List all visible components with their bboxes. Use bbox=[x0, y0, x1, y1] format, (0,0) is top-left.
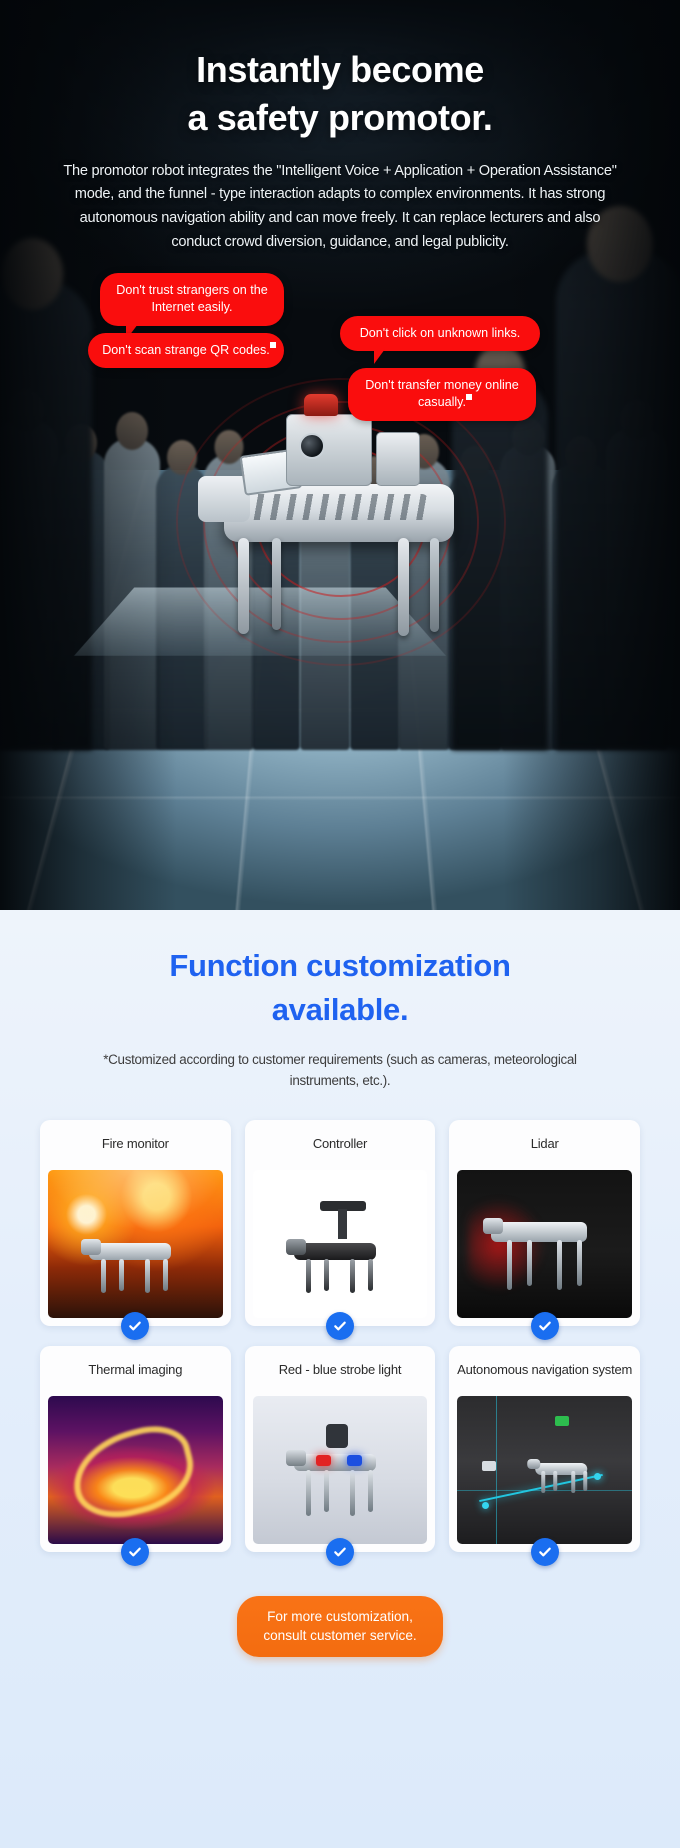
cta-line-1: For more customization, bbox=[267, 1609, 413, 1624]
option-card-image-lidar bbox=[457, 1170, 632, 1318]
check-icon[interactable] bbox=[531, 1538, 559, 1566]
tip-bubble-trust-strangers: Don't trust strangers on the Internet ea… bbox=[100, 273, 284, 326]
hero-copy: Instantly become a safety promotor. The … bbox=[0, 46, 680, 254]
tip-bubble-transfer-money: Don't transfer money online casually. bbox=[348, 368, 536, 421]
option-card-image-thermal-imaging bbox=[48, 1396, 223, 1544]
option-card-image-controller bbox=[253, 1170, 428, 1318]
consult-customer-service-button[interactable]: For more customization, consult customer… bbox=[237, 1596, 442, 1657]
hero-title: Instantly become a safety promotor. bbox=[0, 46, 680, 142]
check-icon[interactable] bbox=[121, 1312, 149, 1340]
option-card-label: Controller bbox=[245, 1120, 436, 1170]
robot-camera-module bbox=[286, 414, 372, 486]
option-card-label: Red - blue strobe light bbox=[245, 1346, 436, 1396]
robot-head bbox=[198, 476, 250, 522]
check-icon[interactable] bbox=[121, 1538, 149, 1566]
option-card-grid: Fire monitor Controller bbox=[40, 1120, 640, 1552]
tip-bubble-qr-codes: Don't scan strange QR codes. bbox=[88, 333, 284, 368]
option-card-label: Lidar bbox=[449, 1120, 640, 1170]
check-icon[interactable] bbox=[326, 1312, 354, 1340]
hero-title-line-1: Instantly become bbox=[196, 49, 484, 90]
function-customization-section: Function customization available. *Custo… bbox=[0, 910, 680, 1848]
promotor-robot-dog bbox=[176, 392, 506, 692]
camera-lens-icon bbox=[299, 433, 325, 459]
check-icon[interactable] bbox=[531, 1312, 559, 1340]
hero-description: The promotor robot integrates the "Intel… bbox=[60, 160, 620, 255]
option-card-label: Fire monitor bbox=[40, 1120, 231, 1170]
cta-wrapper: For more customization, consult customer… bbox=[0, 1596, 680, 1657]
blue-strobe-lamp bbox=[347, 1455, 362, 1466]
option-card-thermal-imaging[interactable]: Thermal imaging bbox=[40, 1346, 231, 1552]
option-card-image-autonomous-navigation bbox=[457, 1396, 632, 1544]
option-card-label: Autonomous navigation system bbox=[449, 1346, 640, 1396]
option-card-label: Thermal imaging bbox=[40, 1346, 231, 1396]
hero-section: Instantly become a safety promotor. The … bbox=[0, 0, 680, 910]
red-strobe-lamp bbox=[316, 1455, 331, 1466]
option-card-strobe-light[interactable]: Red - blue strobe light bbox=[245, 1346, 436, 1552]
option-card-image-fire-monitor bbox=[48, 1170, 223, 1318]
option-card-fire-monitor[interactable]: Fire monitor bbox=[40, 1120, 231, 1326]
option-card-lidar[interactable]: Lidar bbox=[449, 1120, 640, 1326]
robot-aux-module bbox=[376, 432, 420, 486]
product-landing-page: Instantly become a safety promotor. The … bbox=[0, 0, 680, 1848]
option-card-autonomous-navigation[interactable]: Autonomous navigation system bbox=[449, 1346, 640, 1552]
tip-bubble-unknown-links: Don't click on unknown links. bbox=[340, 316, 540, 351]
option-card-image-strobe-light bbox=[253, 1396, 428, 1544]
function-title: Function customization available. bbox=[0, 944, 680, 1032]
hero-title-line-2: a safety promotor. bbox=[188, 97, 493, 138]
robot-warning-beacon bbox=[304, 394, 338, 416]
check-icon[interactable] bbox=[326, 1538, 354, 1566]
option-card-controller[interactable]: Controller bbox=[245, 1120, 436, 1326]
function-subtitle: *Customized according to customer requir… bbox=[75, 1050, 605, 1092]
cta-line-2: consult customer service. bbox=[263, 1628, 416, 1643]
function-title-line-1: Function customization bbox=[169, 948, 510, 983]
function-title-line-2: available. bbox=[272, 992, 409, 1027]
